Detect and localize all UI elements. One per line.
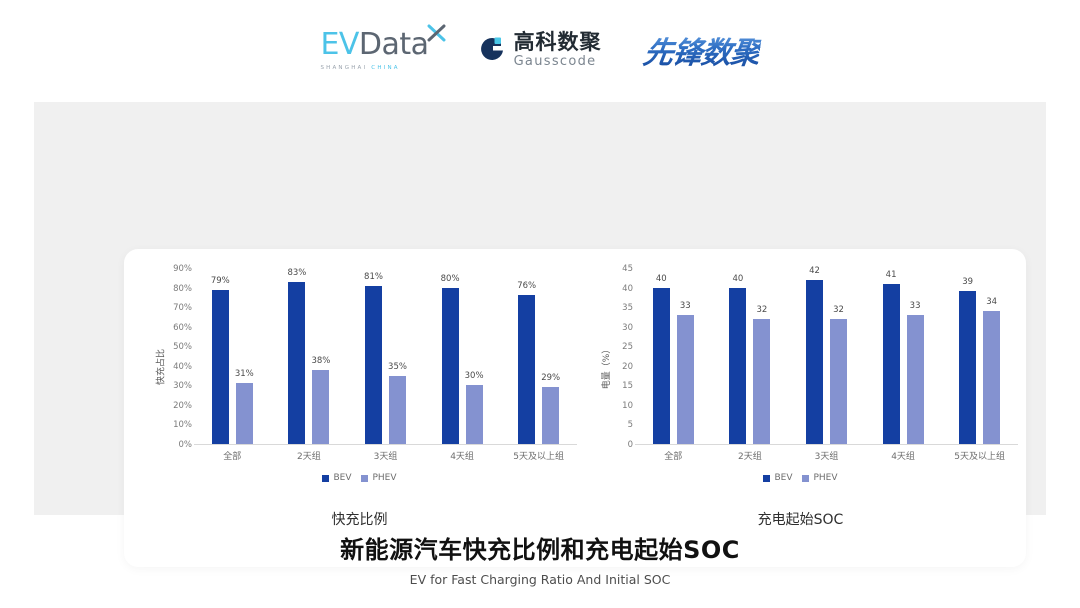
charts-card: 快充占比 0%10%20%30%40%50%60%70%80%90% 79%31… xyxy=(124,249,1026,567)
bar-bev[interactable]: 41 xyxy=(883,284,900,444)
y-axis-ticks-right: 051015202530354045 xyxy=(597,269,633,445)
bar-phev[interactable]: 31% xyxy=(236,383,253,444)
bar-group: 4133 xyxy=(865,269,942,444)
legend-item-bev-right[interactable]: BEV xyxy=(763,473,792,483)
bar-group: 4032 xyxy=(712,269,789,444)
logo-gausscode: 高科数聚 Gausscode xyxy=(477,32,602,68)
legend-swatch-bev-icon xyxy=(763,475,770,482)
bar-value-label: 40 xyxy=(656,274,667,284)
bar-phev[interactable]: 34 xyxy=(983,311,1000,444)
y-tick-label: 50% xyxy=(173,342,192,352)
legend-item-phev-right[interactable]: PHEV xyxy=(802,473,837,483)
y-tick-label: 10 xyxy=(622,401,633,411)
legend-left: BEV PHEV xyxy=(134,473,585,483)
bar-group: 81%35% xyxy=(347,269,424,444)
chart-fast-charging-ratio: 快充占比 0%10%20%30%40%50%60%70%80%90% 79%31… xyxy=(134,261,585,561)
bar-value-label: 34 xyxy=(986,297,997,307)
plot-area-right: 电量（%） 051015202530354045 403340324232413… xyxy=(575,261,1026,473)
gausscode-name-cn: 高科数聚 xyxy=(514,32,602,53)
legend-swatch-bev-icon xyxy=(322,475,329,482)
bar-group: 4232 xyxy=(788,269,865,444)
x-tick-label: 全部 xyxy=(194,449,271,462)
bar-value-label: 42 xyxy=(809,266,820,276)
bar-pair: 3934 xyxy=(941,269,1018,444)
x-tick-label: 2天组 xyxy=(271,449,348,462)
y-tick-label: 5 xyxy=(628,420,633,430)
bar-value-label: 33 xyxy=(910,301,921,311)
bar-bev[interactable]: 80% xyxy=(442,288,459,444)
y-tick-label: 80% xyxy=(173,284,192,294)
bar-phev[interactable]: 30% xyxy=(466,385,483,444)
bar-phev[interactable]: 32 xyxy=(830,319,847,444)
x-tick-label: 2天组 xyxy=(712,449,789,462)
bar-group: 79%31% xyxy=(194,269,271,444)
bars-region-left: 79%31%83%38%81%35%80%30%76%29% xyxy=(194,269,577,445)
bar-value-label: 39 xyxy=(962,277,973,287)
y-tick-label: 35 xyxy=(622,303,633,313)
content-panel: 快充占比 0%10%20%30%40%50%60%70%80%90% 79%31… xyxy=(34,102,1046,515)
gausscode-text-block: 高科数聚 Gausscode xyxy=(514,32,602,68)
y-tick-label: 60% xyxy=(173,323,192,333)
bar-pair: 83%38% xyxy=(271,269,348,444)
page-title-cn: 新能源汽车快充比例和充电起始SOC xyxy=(0,530,1080,565)
bar-value-label: 79% xyxy=(211,276,230,286)
legend-swatch-phev-icon xyxy=(802,475,809,482)
y-tick-label: 15 xyxy=(622,381,633,391)
x-tick-label: 5天及以上组 xyxy=(941,449,1018,462)
legend-label-bev: BEV xyxy=(333,473,351,483)
bar-value-label: 81% xyxy=(364,272,383,282)
x-tick-label: 4天组 xyxy=(865,449,942,462)
x-tick-label: 5天及以上组 xyxy=(500,449,577,462)
bar-pair: 79%31% xyxy=(194,269,271,444)
bar-group: 80%30% xyxy=(424,269,501,444)
bar-value-label: 32 xyxy=(833,305,844,315)
y-tick-label: 30 xyxy=(622,323,633,333)
bar-value-label: 41 xyxy=(886,270,897,280)
x-tick-label: 3天组 xyxy=(788,449,865,462)
x-tick-label: 全部 xyxy=(635,449,712,462)
y-tick-label: 40% xyxy=(173,362,192,372)
slide-root: EVData SHANGHAI CHINA 高科数聚 Gausscode 先锋数 xyxy=(0,0,1080,608)
bar-bev[interactable]: 79% xyxy=(212,290,229,444)
bar-pair: 4232 xyxy=(788,269,865,444)
y-tick-label: 40 xyxy=(622,284,633,294)
bar-phev[interactable]: 38% xyxy=(312,370,329,444)
x-tick-label: 4天组 xyxy=(424,449,501,462)
y-tick-label: 45 xyxy=(622,264,633,274)
logo-bar: EVData SHANGHAI CHINA 高科数聚 Gausscode 先锋数 xyxy=(0,22,1080,78)
bar-pair: 4033 xyxy=(635,269,712,444)
bar-bev[interactable]: 81% xyxy=(365,286,382,444)
x-axis-ticks-left: 全部2天组3天组4天组5天及以上组 xyxy=(194,449,577,462)
legend-label-bev: BEV xyxy=(774,473,792,483)
legend-right: BEV PHEV xyxy=(575,473,1026,483)
bar-group: 4033 xyxy=(635,269,712,444)
legend-label-phev: PHEV xyxy=(372,473,396,483)
bar-value-label: 29% xyxy=(541,373,560,383)
y-tick-label: 0 xyxy=(628,440,633,450)
gausscode-name-en: Gausscode xyxy=(514,55,602,68)
y-axis-ticks-left: 0%10%20%30%40%50%60%70%80%90% xyxy=(156,269,192,445)
bar-pair: 76%29% xyxy=(500,269,577,444)
y-tick-label: 70% xyxy=(173,303,192,313)
chart-initial-charging-soc: 电量（%） 051015202530354045 403340324232413… xyxy=(575,261,1026,561)
logo-evdata: EVData SHANGHAI CHINA xyxy=(320,30,428,71)
x-cross-icon xyxy=(427,23,447,43)
evdata-data-text: Data xyxy=(359,27,429,62)
x-tick-label: 3天组 xyxy=(347,449,424,462)
bar-pair: 4032 xyxy=(712,269,789,444)
bar-bev[interactable]: 40 xyxy=(653,288,670,444)
bars-region-right: 40334032423241333934 xyxy=(635,269,1018,445)
logo-xianfeng: 先锋数聚 xyxy=(640,28,762,72)
bar-value-label: 32 xyxy=(756,305,767,315)
plot-area-left: 快充占比 0%10%20%30%40%50%60%70%80%90% 79%31… xyxy=(134,261,585,473)
gausscode-g-mark-icon xyxy=(477,35,507,65)
y-tick-label: 30% xyxy=(173,381,192,391)
bar-bev[interactable]: 42 xyxy=(806,280,823,444)
y-tick-label: 20 xyxy=(622,362,633,372)
bar-group: 3934 xyxy=(941,269,1018,444)
bar-value-label: 76% xyxy=(517,281,536,291)
legend-label-phev: PHEV xyxy=(813,473,837,483)
y-tick-label: 0% xyxy=(179,440,193,450)
bar-value-label: 38% xyxy=(311,356,330,366)
x-axis-ticks-right: 全部2天组3天组4天组5天及以上组 xyxy=(635,449,1018,462)
bar-value-label: 80% xyxy=(441,274,460,284)
footer-titles: 新能源汽车快充比例和充电起始SOC EV for Fast Charging R… xyxy=(0,530,1080,587)
legend-item-bev-left[interactable]: BEV xyxy=(322,473,351,483)
bar-phev[interactable]: 33 xyxy=(677,315,694,444)
evdata-country-text: CHINA xyxy=(371,65,399,71)
y-tick-label: 10% xyxy=(173,420,192,430)
y-tick-label: 90% xyxy=(173,264,192,274)
evdata-city-text: SHANGHAI xyxy=(320,65,367,71)
evdata-ev-text: EV xyxy=(320,27,358,62)
bar-pair: 4133 xyxy=(865,269,942,444)
bar-bev[interactable]: 76% xyxy=(518,295,535,444)
bar-groups-right: 40334032423241333934 xyxy=(635,269,1018,444)
bar-value-label: 31% xyxy=(235,369,254,379)
bar-pair: 81%35% xyxy=(347,269,424,444)
bar-value-label: 40 xyxy=(732,274,743,284)
page-title-en: EV for Fast Charging Ratio And Initial S… xyxy=(0,572,1080,587)
chart-title-left: 快充比例 xyxy=(134,509,585,529)
chart-title-right: 充电起始SOC xyxy=(575,509,1026,529)
bar-value-label: 83% xyxy=(287,268,306,278)
evdata-wordmark: EVData xyxy=(320,30,428,60)
bar-group: 76%29% xyxy=(500,269,577,444)
bar-bev[interactable]: 40 xyxy=(729,288,746,444)
bar-phev[interactable]: 29% xyxy=(542,387,559,444)
bar-phev[interactable]: 35% xyxy=(389,376,406,444)
bar-bev[interactable]: 83% xyxy=(288,282,305,444)
legend-item-phev-left[interactable]: PHEV xyxy=(361,473,396,483)
bar-pair: 80%30% xyxy=(424,269,501,444)
bar-phev[interactable]: 33 xyxy=(907,315,924,444)
bar-phev[interactable]: 32 xyxy=(753,319,770,444)
legend-swatch-phev-icon xyxy=(361,475,368,482)
bar-group: 83%38% xyxy=(271,269,348,444)
bar-value-label: 35% xyxy=(388,362,407,372)
bar-bev[interactable]: 39 xyxy=(959,291,976,444)
bar-value-label: 30% xyxy=(465,371,484,381)
bar-groups-left: 79%31%83%38%81%35%80%30%76%29% xyxy=(194,269,577,444)
y-tick-label: 20% xyxy=(173,401,192,411)
bar-value-label: 33 xyxy=(680,301,691,311)
charts-container: 快充占比 0%10%20%30%40%50%60%70%80%90% 79%31… xyxy=(124,249,1026,567)
y-tick-label: 25 xyxy=(622,342,633,352)
evdata-tagline: SHANGHAI CHINA xyxy=(320,65,399,71)
